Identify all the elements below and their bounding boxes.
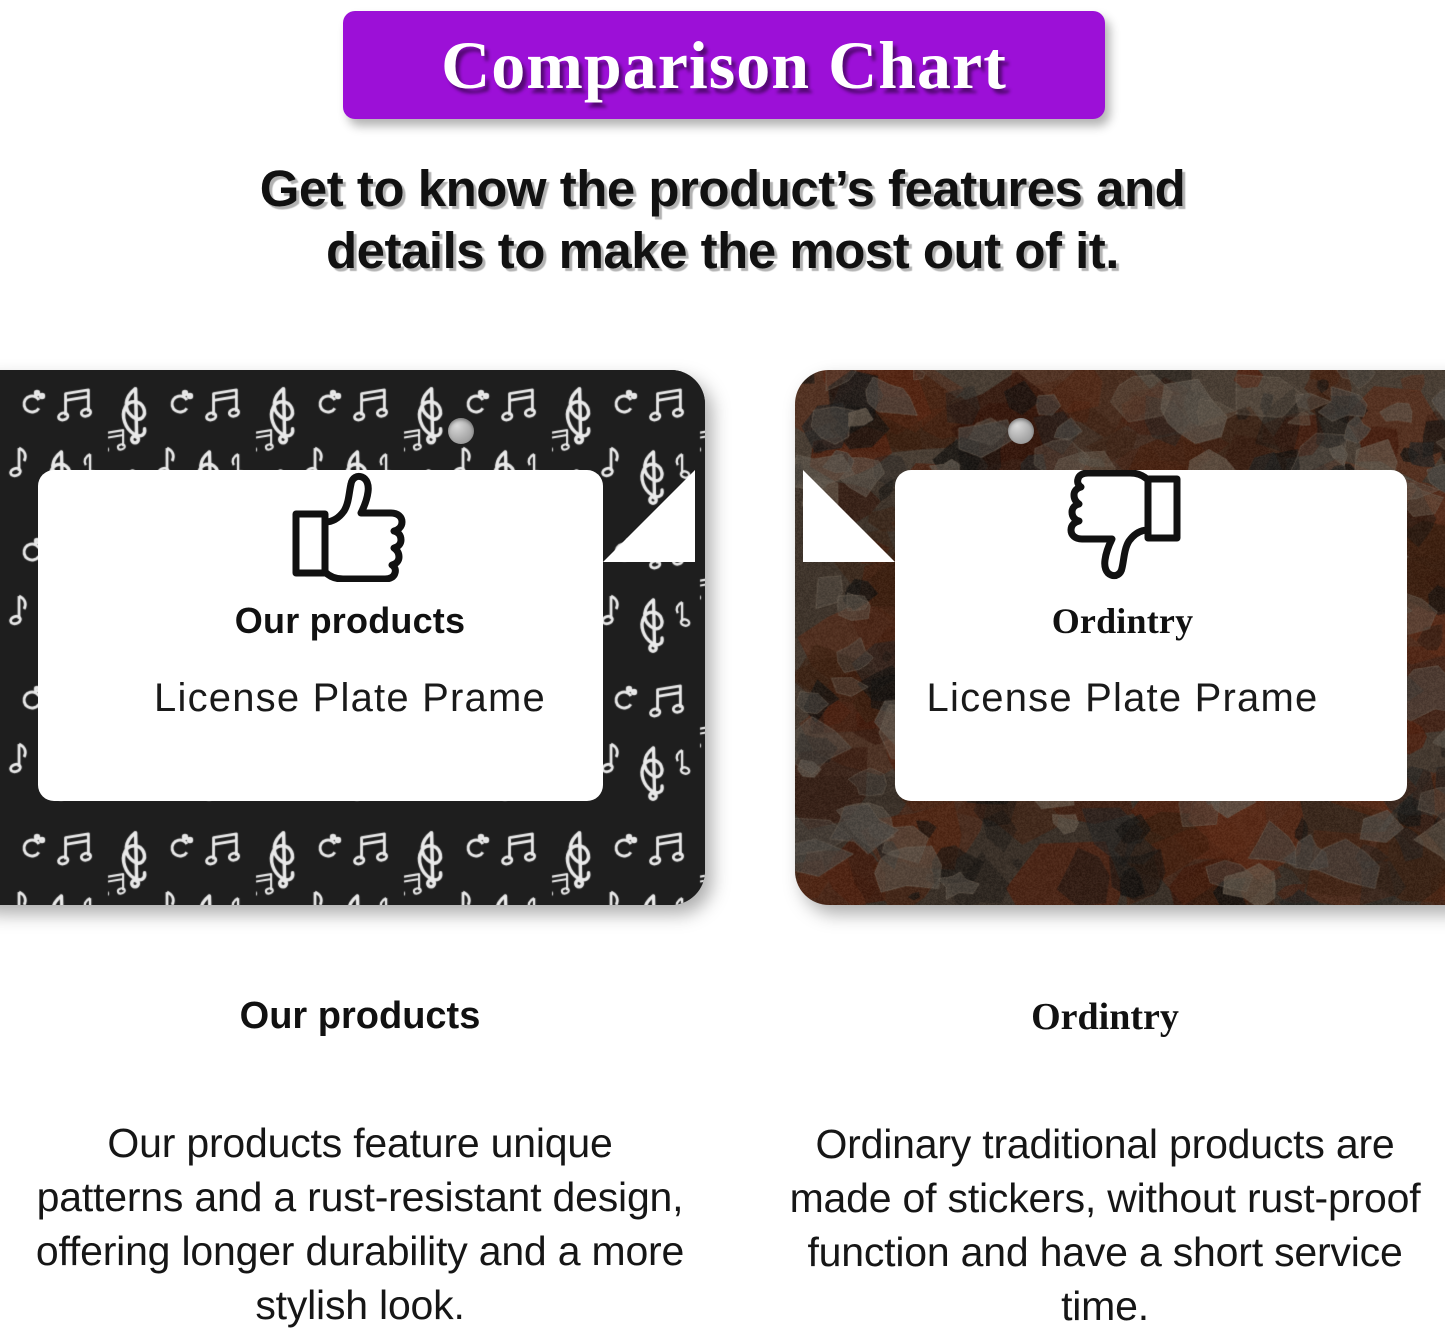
ours-frame-content: Our products License Plate Prame [0,470,700,721]
comparison-chart-banner: Comparison Chart [343,11,1105,119]
ordinary-description-column: Ordintry Ordinary traditional products a… [770,995,1440,1333]
ours-frame-heading: Our products [0,600,700,642]
ours-bottom-body: Our products feature unique patterns and… [30,1116,690,1332]
thumbs-down-icon [1064,470,1182,582]
ordinary-bottom-body: Ordinary traditional products are made o… [770,1117,1440,1333]
screw-hole-icon [1008,418,1034,444]
ours-description-column: Our products Our products feature unique… [30,995,690,1332]
ordinary-frame-heading: Ordintry [800,600,1445,642]
ours-bottom-heading: Our products [30,995,690,1038]
ordinary-frame-subheading: License Plate Prame [800,676,1445,721]
subtitle: Get to know the product’s features and d… [0,158,1445,282]
ordinary-frame-content: Ordintry License Plate Prame [800,470,1445,721]
page-title: Comparison Chart [441,31,1007,99]
subtitle-line-1: Get to know the product’s features and [100,158,1345,220]
screw-hole-icon [448,418,474,444]
subtitle-line-2: details to make the most out of it. [100,220,1345,282]
ordinary-bottom-heading: Ordintry [770,995,1440,1039]
thumbs-up-icon [291,470,409,582]
ours-frame-subheading: License Plate Prame [0,676,700,721]
